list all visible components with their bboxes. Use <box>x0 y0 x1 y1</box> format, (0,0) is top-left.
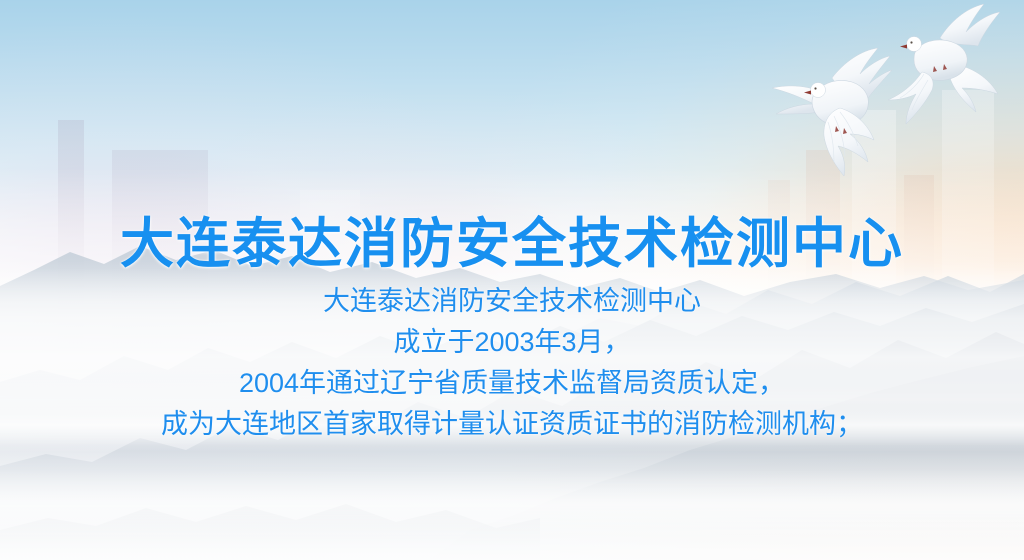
doves-graphic <box>764 0 1024 190</box>
description-block: 大连泰达消防安全技术检测中心 成立于2003年3月， 2004年通过辽宁省质量技… <box>0 281 1024 445</box>
dove-upper-right-icon <box>888 4 1000 124</box>
description-line-3: 2004年通过辽宁省质量技术监督局资质认定， <box>0 363 1024 404</box>
page-title: 大连泰达消防安全技术检测中心 <box>0 199 1024 278</box>
description-line-1: 大连泰达消防安全技术检测中心 <box>0 281 1024 322</box>
description-line-2: 成立于2003年3月， <box>0 322 1024 363</box>
dove-lower-left-icon <box>772 48 892 176</box>
fog-streak-lower <box>0 470 1024 540</box>
slide-canvas: 大连泰达消防安全技术检测中心 大连泰达消防安全技术检测中心 成立于2003年3月… <box>0 0 1024 560</box>
description-line-4: 成为大连地区首家取得计量认证资质证书的消防检测机构； <box>0 404 1024 445</box>
